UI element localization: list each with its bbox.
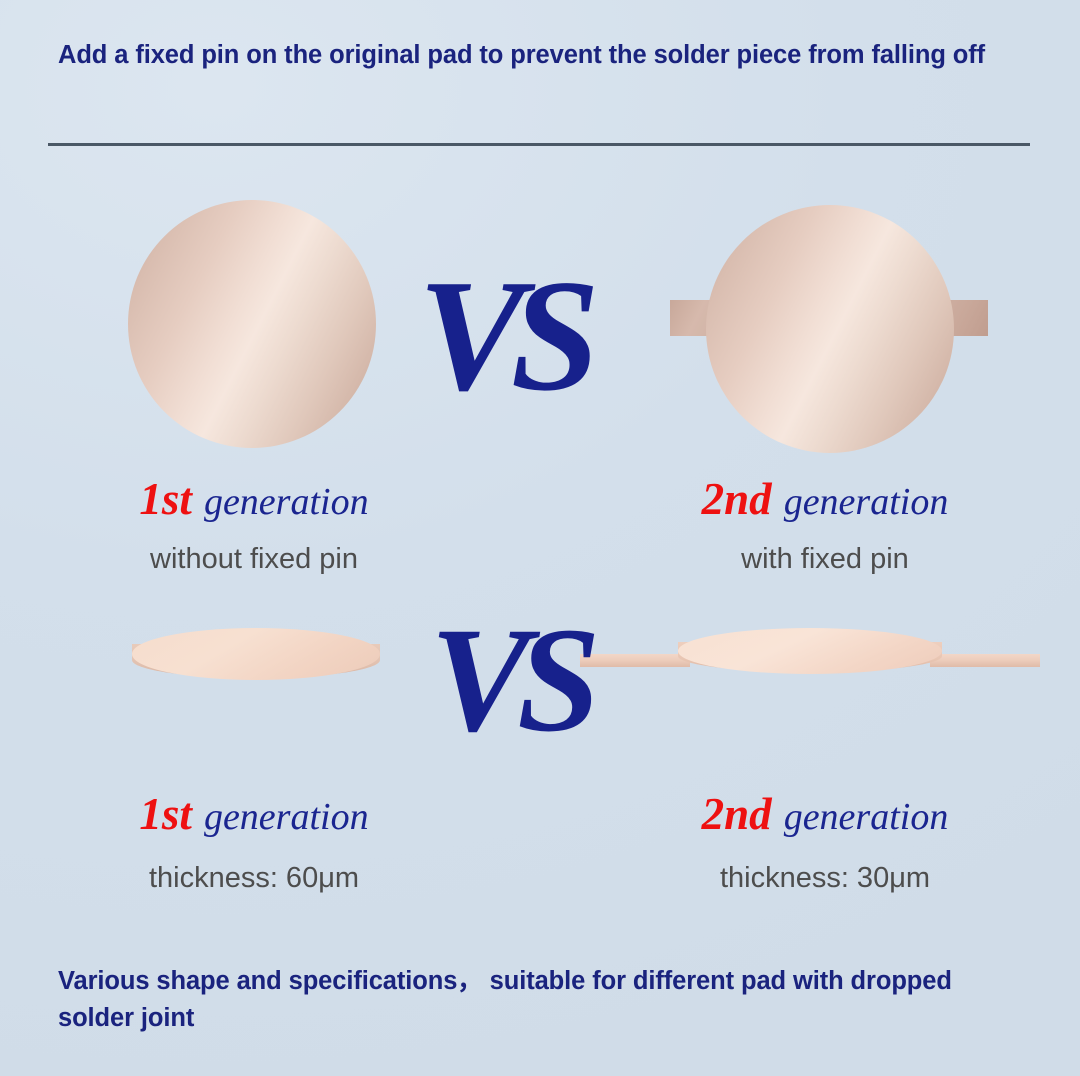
detail-1st-generation-top: without fixed pin bbox=[4, 543, 504, 576]
label-2nd-generation-top: 2ndgeneration bbox=[575, 473, 1075, 525]
generation-word-bottom-right: generation bbox=[784, 796, 949, 838]
infographic-page: Add a fixed pin on the original pad to p… bbox=[0, 0, 1080, 1076]
generation-word-top-left: generation bbox=[204, 481, 369, 523]
disc-top-surface-thin bbox=[678, 628, 942, 674]
label-1st-generation-top: 1stgeneration bbox=[4, 473, 504, 525]
ordinal-2nd-top: 2nd bbox=[702, 474, 772, 524]
disc-top-surface bbox=[132, 628, 380, 680]
vs-logo-top: VS bbox=[418, 255, 586, 415]
footer-caption: Various shape and specifications， suitab… bbox=[58, 963, 1018, 1037]
solder-pad-circle-with-pins bbox=[706, 205, 954, 453]
solder-pad-plain-circle bbox=[128, 200, 376, 448]
solder-disc-thin-with-pins bbox=[580, 628, 1040, 700]
pad-art-1st-gen-side bbox=[0, 610, 500, 730]
ordinal-2nd-bottom: 2nd bbox=[702, 789, 772, 839]
ordinal-1st-top: 1st bbox=[139, 474, 192, 524]
detail-2nd-generation-bottom: thickness: 30μm bbox=[575, 862, 1075, 895]
vs-logo-bottom: VS bbox=[430, 605, 587, 755]
page-title: Add a fixed pin on the original pad to p… bbox=[58, 38, 1018, 73]
pad-art-2nd-gen-face bbox=[560, 195, 1060, 455]
ordinal-1st-bottom: 1st bbox=[139, 789, 192, 839]
pad-art-2nd-gen-side bbox=[560, 610, 1060, 730]
detail-2nd-generation-top: with fixed pin bbox=[575, 543, 1075, 576]
side-pin-right bbox=[930, 654, 1040, 667]
generation-word-bottom-left: generation bbox=[204, 796, 369, 838]
solder-disc-thick bbox=[132, 628, 380, 700]
label-1st-generation-bottom: 1stgeneration bbox=[4, 788, 504, 840]
detail-1st-generation-bottom: thickness: 60μm bbox=[4, 862, 504, 895]
generation-word-top-right: generation bbox=[784, 481, 949, 523]
label-2nd-generation-bottom: 2ndgeneration bbox=[575, 788, 1075, 840]
side-pin-left bbox=[580, 654, 690, 667]
header-divider bbox=[48, 143, 1030, 146]
